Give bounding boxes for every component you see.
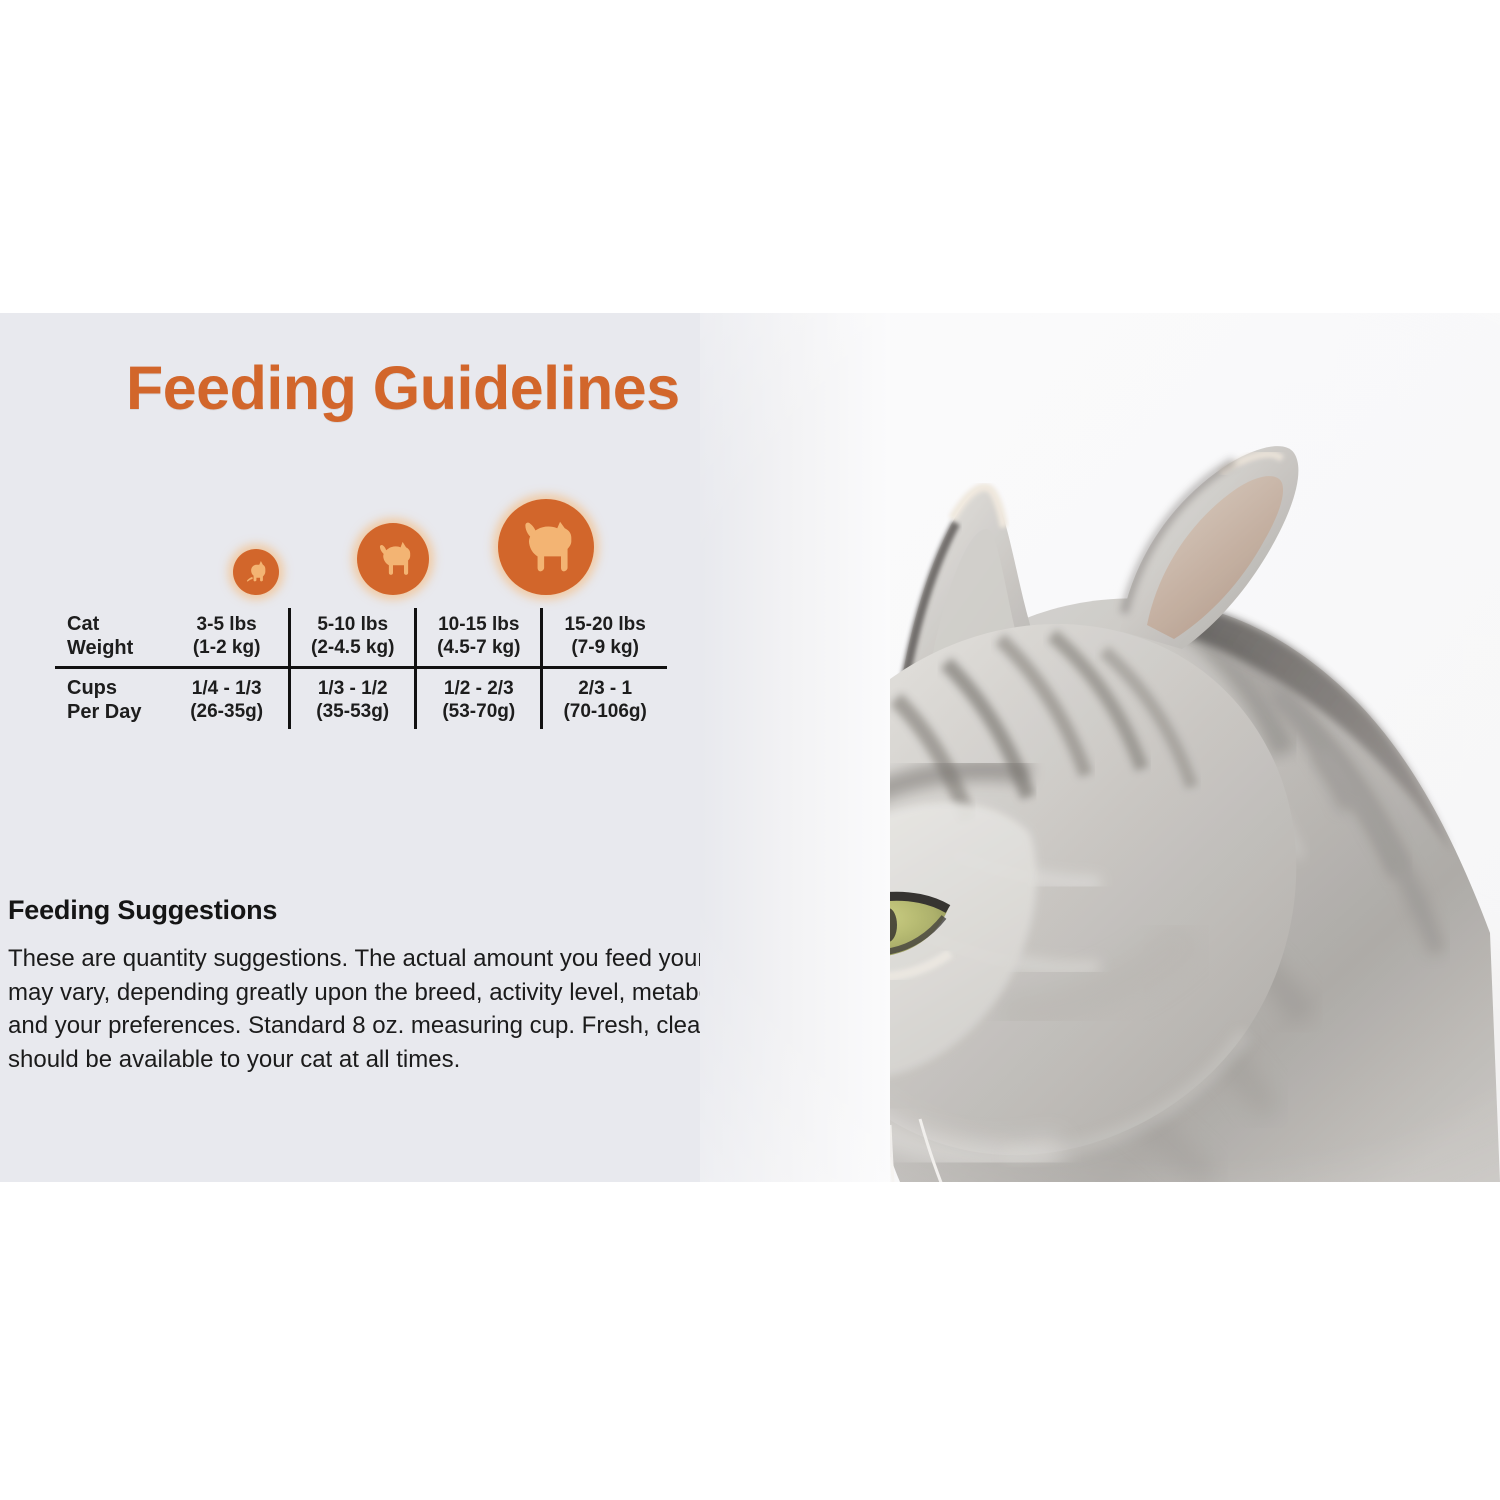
cat-silhouette-standing-icon [371,537,415,581]
cell-primary: 1/2 - 2/3 [444,678,514,699]
table-row-cups-per-day: Cups Per Day 1/4 - 1/3 (26-35g) 1/3 - 1/… [55,668,667,730]
cell-primary: 1/3 - 1/2 [318,678,388,699]
feeding-suggestions-block: Feeding Suggestions These are quantity s… [8,895,798,1076]
cat-photo-pane [700,313,1500,1182]
row-header-cat-weight: Cat Weight [55,608,165,668]
cat-silhouette-sitting-icon [243,559,269,585]
cell-weight-3: 10-15 lbs (4.5-7 kg) [416,608,542,668]
feeding-suggestions-body: These are quantity suggestions. The actu… [8,942,788,1076]
cell-secondary: (7-9 kg) [543,636,667,659]
cell-secondary: (2-4.5 kg) [291,636,414,659]
row-header-line1: Cups [67,677,117,699]
table-row-cat-weight: Cat Weight 3-5 lbs (1-2 kg) 5-10 lbs (2-… [55,608,667,668]
cell-secondary: (53-70g) [417,700,540,723]
cell-primary: 10-15 lbs [438,614,519,635]
cat-icon-small [233,549,279,595]
cell-weight-4: 15-20 lbs (7-9 kg) [542,608,667,668]
cell-secondary: (70-106g) [543,700,667,723]
cat-icon-medium [357,523,429,595]
cat-icon-large [498,499,594,595]
cell-cups-4: 2/3 - 1 (70-106g) [542,668,667,730]
cell-weight-2: 5-10 lbs (2-4.5 kg) [290,608,416,668]
cell-weight-1: 3-5 lbs (1-2 kg) [165,608,290,668]
row-header-line2: Per Day [67,701,142,723]
cell-primary: 1/4 - 1/3 [192,678,262,699]
cell-secondary: (4.5-7 kg) [417,636,540,659]
cell-secondary: (26-35g) [165,700,288,723]
row-header-cups-per-day: Cups Per Day [55,668,165,730]
cell-primary: 15-20 lbs [564,614,645,635]
cat-size-icon-row [55,495,675,595]
cell-primary: 5-10 lbs [317,614,388,635]
cell-cups-1: 1/4 - 1/3 (26-35g) [165,668,290,730]
feeding-suggestions-heading: Feeding Suggestions [8,895,798,926]
row-header-line1: Cat [67,613,99,635]
cat-photo [700,313,1500,1182]
page-canvas: Feeding Guidelines Cat Weight [0,0,1500,1500]
cell-primary: 2/3 - 1 [578,678,632,699]
cell-secondary: (1-2 kg) [165,636,288,659]
cell-secondary: (35-53g) [291,700,414,723]
cell-cups-2: 1/3 - 1/2 (35-53g) [290,668,416,730]
row-header-line2: Weight [67,637,133,659]
cell-primary: 3-5 lbs [197,614,257,635]
feeding-table: Cat Weight 3-5 lbs (1-2 kg) 5-10 lbs (2-… [55,608,667,729]
cell-cups-3: 1/2 - 2/3 (53-70g) [416,668,542,730]
cat-silhouette-large-icon [516,517,576,577]
page-title: Feeding Guidelines [126,358,680,419]
